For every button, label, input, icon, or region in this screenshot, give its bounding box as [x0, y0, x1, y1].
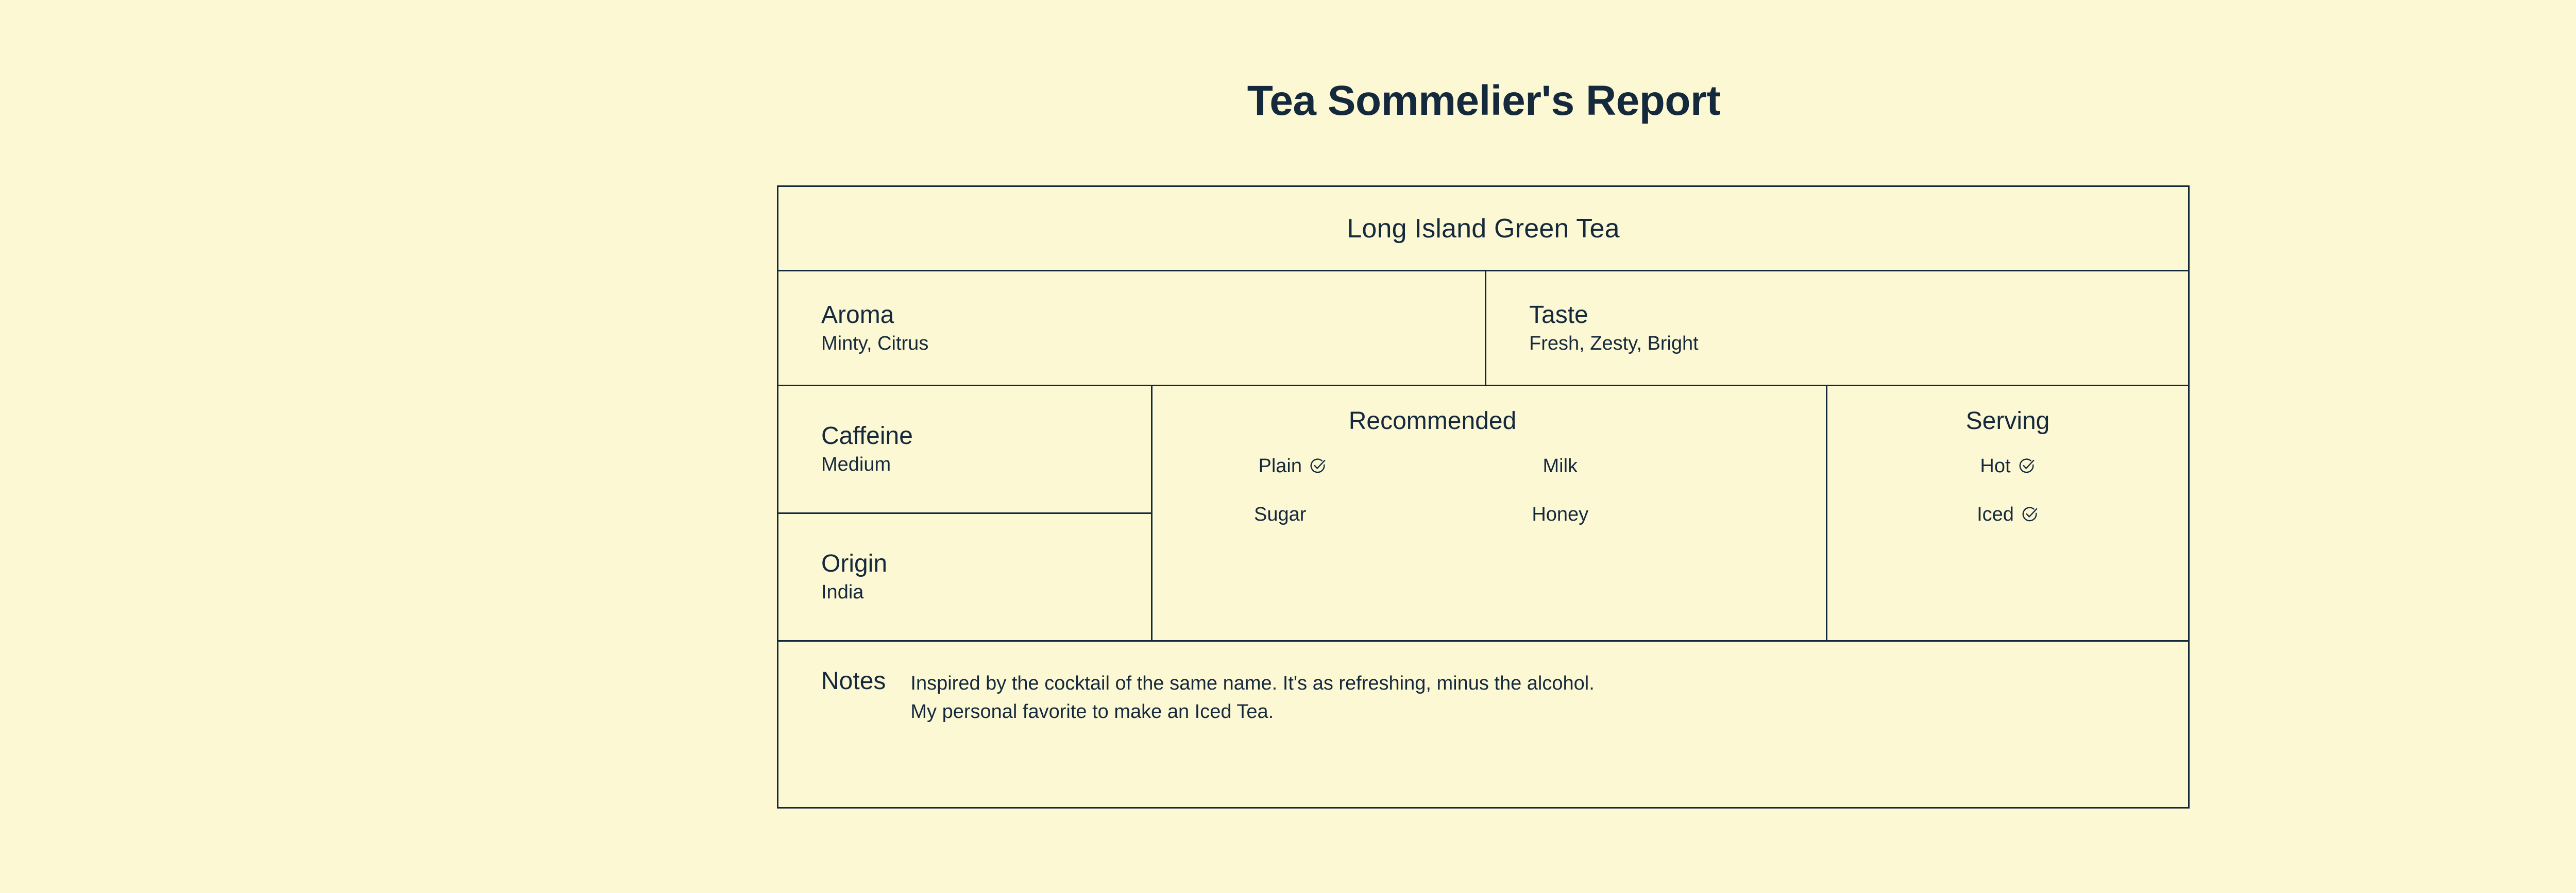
report-page: Tea Sommelier's Report Long Island Green… — [0, 0, 2576, 893]
serving-section: Serving Hot Iced — [1827, 386, 2188, 640]
caffeine-label: Caffeine — [821, 422, 1149, 451]
attribute-cell-aroma: Aroma Minty, Citrus — [778, 271, 1149, 385]
serving-option-iced-label: Iced — [1977, 505, 2014, 524]
aroma-label: Aroma — [821, 301, 1149, 330]
tea-name-header: Long Island Green Tea — [778, 187, 2188, 270]
recommended-section: Recommended Plain Milk — [1153, 386, 1713, 640]
serving-option-hot[interactable]: Hot — [1980, 456, 2035, 476]
recommended-option-honey[interactable]: Honey — [1433, 505, 1713, 524]
recommended-option-honey-label: Honey — [1532, 505, 1588, 524]
page-title: Tea Sommelier's Report — [0, 80, 2576, 122]
taste-label: Taste — [1529, 301, 1950, 330]
notes-line-2: My personal favorite to make an Iced Tea… — [910, 698, 1594, 726]
tea-report-table: Long Island Green Tea Aroma Minty, Citru… — [777, 185, 2190, 809]
check-circle-icon — [2021, 506, 2039, 523]
recommended-option-sugar[interactable]: Sugar — [1153, 505, 1433, 524]
attribute-cell-caffeine: Caffeine Medium — [778, 386, 1149, 512]
recommended-option-milk-label: Milk — [1543, 456, 1578, 476]
recommended-option-plain-label: Plain — [1259, 456, 1302, 476]
notes-label: Notes — [821, 666, 886, 696]
serving-option-iced[interactable]: Iced — [1977, 505, 2039, 524]
attribute-cell-origin: Origin India — [778, 514, 1149, 640]
caffeine-value: Medium — [821, 453, 1149, 477]
check-circle-icon — [2018, 457, 2036, 475]
recommended-option-plain[interactable]: Plain — [1153, 456, 1433, 476]
attribute-cell-taste: Taste Fresh, Zesty, Bright — [1486, 271, 1950, 385]
recommended-option-milk[interactable]: Milk — [1433, 456, 1713, 476]
recommended-option-sugar-label: Sugar — [1254, 505, 1306, 524]
notes-line-1: Inspired by the cocktail of the same nam… — [910, 669, 1594, 698]
serving-option-hot-label: Hot — [1980, 456, 2010, 476]
taste-value: Fresh, Zesty, Bright — [1529, 332, 1950, 356]
check-circle-icon — [1309, 457, 1327, 475]
serving-options: Hot Iced — [1827, 456, 2188, 524]
serving-title: Serving — [1827, 409, 2188, 434]
notes-section: Notes Inspired by the cocktail of the sa… — [778, 642, 2188, 807]
origin-label: Origin — [821, 549, 1149, 579]
recommended-options: Plain Milk — [1153, 456, 1713, 524]
notes-body: Inspired by the cocktail of the same nam… — [910, 666, 1594, 726]
aroma-value: Minty, Citrus — [821, 332, 1149, 356]
recommended-title: Recommended — [1153, 409, 1713, 434]
origin-value: India — [821, 581, 1149, 605]
